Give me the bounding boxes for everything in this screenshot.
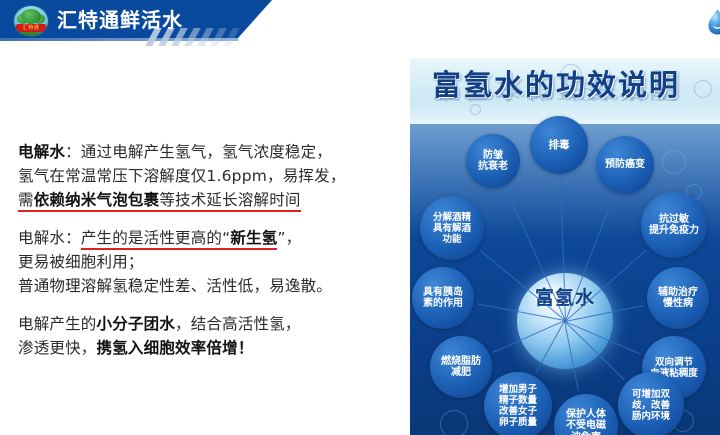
paragraph-p1: 电解水：通过电解产生氢气，氢气浓度稳定，氢气在常温常压下溶解度仅1.6ppm，易… <box>18 140 398 212</box>
benefit-bubble-label: 抗过敏提升免疫力 <box>647 214 701 237</box>
benefit-bubble-label: 可增加双歧，改善肠内环境 <box>630 389 672 422</box>
body-text: 普通物理溶解氢稳定性差、活性低，易逸散。 <box>18 277 332 295</box>
page-header: 汇特通 汇特通鲜活水 电解 <box>0 0 720 46</box>
emphasis-text: 携氢入细胞效率倍增！ <box>97 339 254 357</box>
underlined-text: 需 <box>18 191 34 212</box>
benefit-bubble: 排毒 <box>530 116 588 174</box>
body-text: 电解水： <box>18 229 81 247</box>
benefit-bubble-label: 具有胰岛素的作用 <box>421 287 465 310</box>
benefit-bubble: 辅助治疗慢性病 <box>647 267 709 329</box>
underlined-text: 等技术延长溶解时间 <box>159 191 300 212</box>
body-text: ”， <box>277 229 301 247</box>
text-line: 需依赖纳米气泡包裹等技术延长溶解时间 <box>18 188 398 212</box>
text-line: 渗透更快，携氢入细胞效率倍增！ <box>18 336 398 360</box>
logo-foliage-top <box>21 9 41 24</box>
text-line: 氢气在常温常压下溶解度仅1.6ppm，易挥发， <box>18 164 398 188</box>
emphasis-text: 小分子团水 <box>97 315 176 333</box>
text-line: 更易被细胞利用； <box>18 250 398 274</box>
body-text: ，结合高活性氢， <box>175 315 301 333</box>
tree-badge-logo: 汇特通 <box>13 5 49 37</box>
text-line: 电解水：通过电解产生氢气，氢气浓度稳定， <box>18 140 398 164</box>
body-text: 氢气在常温常压下溶解度仅1.6ppm，易挥发， <box>18 167 346 185</box>
logo-ribbon-label: 汇特通 <box>16 24 46 32</box>
body-text: 电解产生的 <box>18 315 97 333</box>
benefit-bubble-label: 保护人体不受电磁波危害 <box>564 409 608 435</box>
body-text: ：通过电解产生氢气，氢气浓度稳定， <box>65 143 332 161</box>
hydrogen-water-infographic: 富氢水的功效说明 富氢水的功效说明 富氢水 分解酒精具有解酒功能防皱抗衰老排毒预… <box>410 58 720 435</box>
benefit-bubble: 保护人体不受电磁波危害 <box>554 394 618 435</box>
benefit-bubble: 预防癌变 <box>596 136 654 194</box>
benefit-bubble: 可增加双歧，改善肠内环境 <box>618 372 684 435</box>
water-drop-icon <box>706 7 720 37</box>
main-text-content: 电解水：通过电解产生氢气，氢气浓度稳定，氢气在常温常压下溶解度仅1.6ppm，易… <box>18 140 398 374</box>
benefit-bubble-label: 燃烧脂肪减肥 <box>439 356 483 379</box>
paragraph-p2: 电解水：产生的是活性更高的“新生氢”，更易被细胞利用；普通物理溶解氢稳定性差、活… <box>18 226 398 298</box>
paragraph-p3: 电解产生的小分子团水，结合高活性氢，渗透更快，携氢入细胞效率倍增！ <box>18 312 398 360</box>
emphasis-text: 电解水 <box>18 143 65 161</box>
benefit-bubble-label: 预防癌变 <box>603 159 647 171</box>
benefit-bubble: 增加男子精子数量改善女子卵子质量 <box>484 372 552 435</box>
benefit-bubble-label: 排毒 <box>547 139 572 151</box>
text-line: 电解产生的小分子团水，结合高活性氢， <box>18 312 398 336</box>
text-line: 电解水：产生的是活性更高的“新生氢”， <box>18 226 398 250</box>
benefit-bubble: 分解酒精具有解酒功能 <box>420 196 484 260</box>
benefit-bubble-label: 防皱抗衰老 <box>476 150 510 173</box>
page-title: 汇特通鲜活水 <box>57 8 183 32</box>
text-line: 普通物理溶解氢稳定性差、活性低，易逸散。 <box>18 274 398 298</box>
infographic-title: 富氢水的功效说明 <box>432 66 680 104</box>
benefit-bubble: 抗过敏提升免疫力 <box>641 192 707 258</box>
emphasis-underlined-text: 依赖纳米气泡包裹 <box>34 191 160 212</box>
body-text: 渗透更快， <box>18 339 97 357</box>
benefit-bubble: 具有胰岛素的作用 <box>412 267 474 329</box>
benefit-bubble-label: 分解酒精具有解酒功能 <box>431 212 473 245</box>
emphasis-underlined-text: 新生氢 <box>230 229 277 250</box>
benefit-bubble-label: 增加男子精子数量改善女子卵子质量 <box>497 384 539 428</box>
benefit-bubble-label: 辅助治疗慢性病 <box>656 287 700 310</box>
benefit-bubble: 防皱抗衰老 <box>466 134 520 188</box>
infographic-title-bar: 富氢水的功效说明 富氢水的功效说明 <box>410 58 720 124</box>
benefit-bubble: 燃烧脂肪减肥 <box>430 336 492 398</box>
body-text: 更易被细胞利用； <box>18 253 144 271</box>
underlined-text: 产生的是活性更高的“ <box>81 229 231 250</box>
